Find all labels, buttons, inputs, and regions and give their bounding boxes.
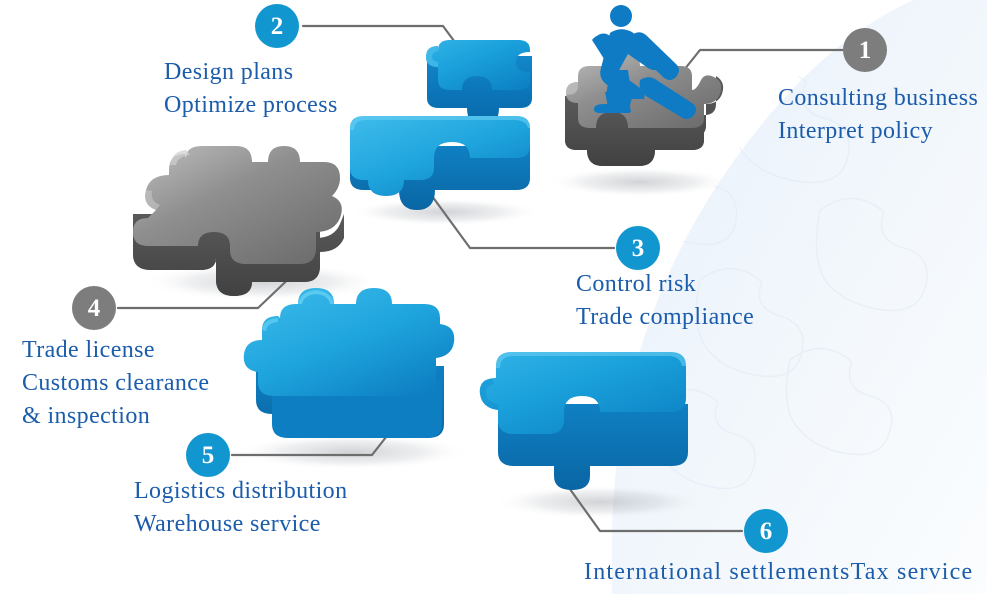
infographic-canvas: 1 Consulting business Interpret policy 2… xyxy=(0,0,987,594)
step-badge-2[interactable]: 2 xyxy=(255,4,299,48)
step-label-3: Control risk Trade compliance xyxy=(576,268,754,334)
step-2-line-1: Design plans xyxy=(164,56,338,89)
puzzle-piece-5-blue xyxy=(244,288,454,438)
step-6-line-1: International settlementsTax service xyxy=(584,556,973,589)
step-label-6: International settlementsTax service xyxy=(584,556,973,589)
step-label-1: Consulting business Interpret policy xyxy=(778,82,978,148)
step-4-line-1: Trade license xyxy=(22,334,209,367)
step-3-line-1: Control risk xyxy=(576,268,754,301)
step-2-line-2: Optimize process xyxy=(164,89,338,122)
step-badge-6[interactable]: 6 xyxy=(744,509,788,553)
step-label-4: Trade license Customs clearance & inspec… xyxy=(22,334,209,433)
step-badge-1[interactable]: 1 xyxy=(843,28,887,72)
connector-1 xyxy=(676,50,843,80)
step-label-5: Logistics distribution Warehouse service xyxy=(134,475,347,541)
puzzle-piece-2-blue xyxy=(426,40,532,126)
puzzle-piece-6-blue xyxy=(480,352,688,490)
step-label-2: Design plans Optimize process xyxy=(164,56,338,122)
step-1-line-2: Interpret policy xyxy=(778,115,978,148)
step-badge-3[interactable]: 3 xyxy=(616,226,660,270)
step-badge-5[interactable]: 5 xyxy=(186,433,230,477)
step-5-line-1: Logistics distribution xyxy=(134,475,347,508)
step-5-line-2: Warehouse service xyxy=(134,508,347,541)
step-badge-4[interactable]: 4 xyxy=(72,286,116,330)
puzzle-piece-1-gray xyxy=(565,52,723,166)
step-3-line-2: Trade compliance xyxy=(576,301,754,334)
step-4-line-2: Customs clearance xyxy=(22,367,209,400)
step-4-line-3: & inspection xyxy=(22,400,209,433)
puzzle-piece-3-blue xyxy=(350,116,530,210)
step-1-line-1: Consulting business xyxy=(778,82,978,115)
